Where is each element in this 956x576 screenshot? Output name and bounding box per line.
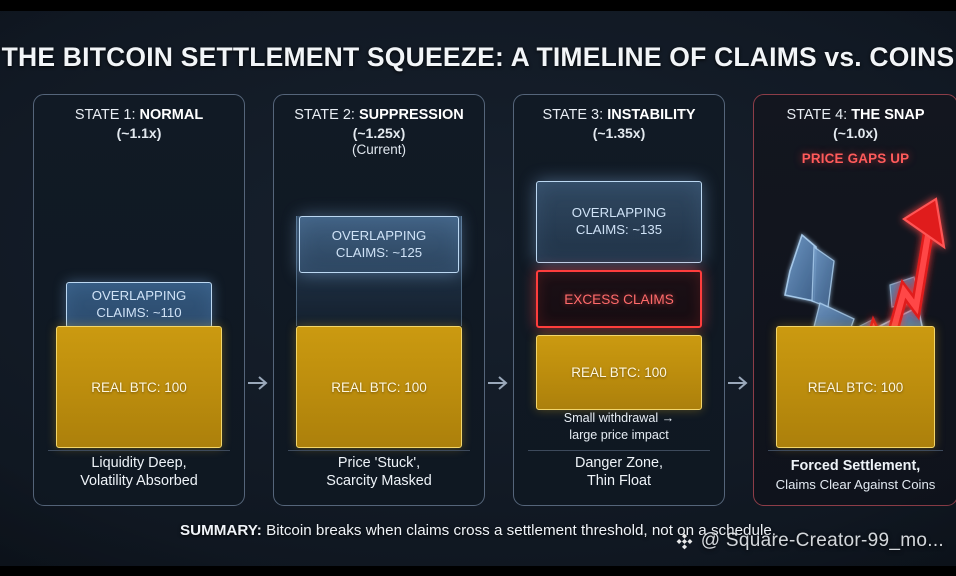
state-panel-1-normal[interactable]: STATE 1: NORMAL (~1.1x) OVERLAPPING CLAI… <box>33 94 245 506</box>
panel-3-note: Small withdrawal → large price impact <box>520 410 718 443</box>
panel-1-caption-line1: Liquidity Deep, <box>38 454 240 473</box>
panel-3-caption: Danger Zone, Thin Float <box>518 454 720 491</box>
panel-1-divider <box>48 450 230 451</box>
panel-1-caption: Liquidity Deep, Volatility Absorbed <box>38 454 240 491</box>
connector-arrow-2 <box>486 372 512 394</box>
panel-4-caption: Forced Settlement, Claims Clear Against … <box>758 457 953 493</box>
state-panel-4-the-snap[interactable]: STATE 4: THE SNAP (~1.0x) PRICE GAPS UP <box>753 94 956 506</box>
panel-4-divider <box>768 450 943 451</box>
panel-3-caption-line1: Danger Zone, <box>518 454 720 473</box>
panel-3-claims-line1: OVERLAPPING <box>572 205 667 222</box>
panel-4-state-name: THE SNAP <box>851 107 924 123</box>
panel-1-btc-label: REAL BTC: 100 <box>91 380 187 395</box>
watermark-handle: @ Square-Creator-99_mo... <box>701 530 944 552</box>
panel-4-real-btc-box: REAL BTC: 100 <box>776 326 935 448</box>
panel-3-multiplier: (~1.35x) <box>514 125 724 142</box>
panel-3-divider <box>528 450 710 451</box>
page-title: THE BITCOIN SETTLEMENT SQUEEZE: A TIMELI… <box>0 42 956 73</box>
panel-3-caption-line2: Thin Float <box>518 472 720 491</box>
panel-4-multiplier: (~1.0x) <box>754 125 956 142</box>
panel-3-header: STATE 3: INSTABILITY (~1.35x) <box>514 107 724 142</box>
panel-2-caption: Price 'Stuck', Scarcity Masked <box>278 454 480 491</box>
watermark: @ Square-Creator-99_mo... <box>675 530 944 552</box>
panel-3-overlapping-claims-box: OVERLAPPING CLAIMS: ~135 <box>536 181 702 263</box>
panel-1-claims-line2: CLAIMS: ~110 <box>96 305 181 322</box>
panel-2-current-tag: (Current) <box>274 142 484 158</box>
panel-1-caption-line2: Volatility Absorbed <box>38 472 240 491</box>
panel-2-btc-label: REAL BTC: 100 <box>331 380 427 395</box>
panel-1-multiplier: (~1.1x) <box>34 125 244 142</box>
panel-2-state-name: SUPPRESSION <box>359 107 464 123</box>
connector-arrow-3 <box>726 372 752 394</box>
panel-3-note-line2: large price impact <box>520 427 718 443</box>
panel-2-multiplier: (~1.25x) <box>274 125 484 142</box>
panel-3-excess-label: EXCESS CLAIMS <box>564 292 674 307</box>
panel-2-divider <box>288 450 470 451</box>
summary-prefix: SUMMARY: <box>180 522 262 539</box>
panel-4-btc-label: REAL BTC: 100 <box>808 380 904 395</box>
state-panel-2-suppression[interactable]: STATE 2: SUPPRESSION (~1.25x) (Current) … <box>273 94 485 506</box>
panel-2-caption-line2: Scarcity Masked <box>278 472 480 491</box>
panel-4-header: STATE 4: THE SNAP (~1.0x) <box>754 107 956 142</box>
states-row: STATE 1: NORMAL (~1.1x) OVERLAPPING CLAI… <box>0 94 956 514</box>
connector-arrow-1 <box>246 372 272 394</box>
panel-1-state-label: STATE 1: <box>75 107 136 123</box>
panel-2-overlapping-claims-box: OVERLAPPING CLAIMS: ~125 <box>299 216 459 273</box>
panel-3-claims-line2: CLAIMS: ~135 <box>576 222 662 239</box>
panel-1-state-name: NORMAL <box>140 107 204 123</box>
letterbox-top <box>0 0 956 11</box>
infographic-canvas: THE BITCOIN SETTLEMENT SQUEEZE: A TIMELI… <box>0 11 956 566</box>
panel-3-state-label: STATE 3: <box>542 107 603 123</box>
letterbox-bottom <box>0 566 956 576</box>
panel-2-caption-line1: Price 'Stuck', <box>278 454 480 473</box>
panel-2-real-btc-box: REAL BTC: 100 <box>296 326 462 448</box>
state-panel-3-instability[interactable]: STATE 3: INSTABILITY (~1.35x) OVERLAPPIN… <box>513 94 725 506</box>
panel-2-header: STATE 2: SUPPRESSION (~1.25x) (Current) <box>274 107 484 158</box>
panel-4-price-gaps-up-label: PRICE GAPS UP <box>754 151 956 166</box>
panel-3-state-name: INSTABILITY <box>607 107 695 123</box>
panel-1-claims-line1: OVERLAPPING <box>92 288 187 305</box>
panel-3-excess-claims-box: EXCESS CLAIMS <box>536 270 702 328</box>
panel-4-state-label: STATE 4: <box>786 107 847 123</box>
panel-1-real-btc-box: REAL BTC: 100 <box>56 326 222 448</box>
panel-2-claims-line2: CLAIMS: ~125 <box>336 245 422 262</box>
panel-3-note-line1: Small withdrawal → <box>520 410 718 426</box>
panel-2-state-label: STATE 2: <box>294 107 355 123</box>
panel-1-header: STATE 1: NORMAL (~1.1x) <box>34 107 244 142</box>
panel-3-btc-label: REAL BTC: 100 <box>571 365 667 380</box>
infographic-stage: THE BITCOIN SETTLEMENT SQUEEZE: A TIMELI… <box>0 0 956 576</box>
panel-4-caption-line2: Claims Clear Against Coins <box>758 476 953 493</box>
panel-2-claims-line1: OVERLAPPING <box>332 228 427 245</box>
panel-4-caption-line1: Forced Settlement, <box>791 458 921 474</box>
binance-diamond-icon <box>675 532 694 551</box>
panel-1-overlapping-claims-box: OVERLAPPING CLAIMS: ~110 <box>66 282 212 328</box>
panel-3-real-btc-box: REAL BTC: 100 <box>536 335 702 410</box>
